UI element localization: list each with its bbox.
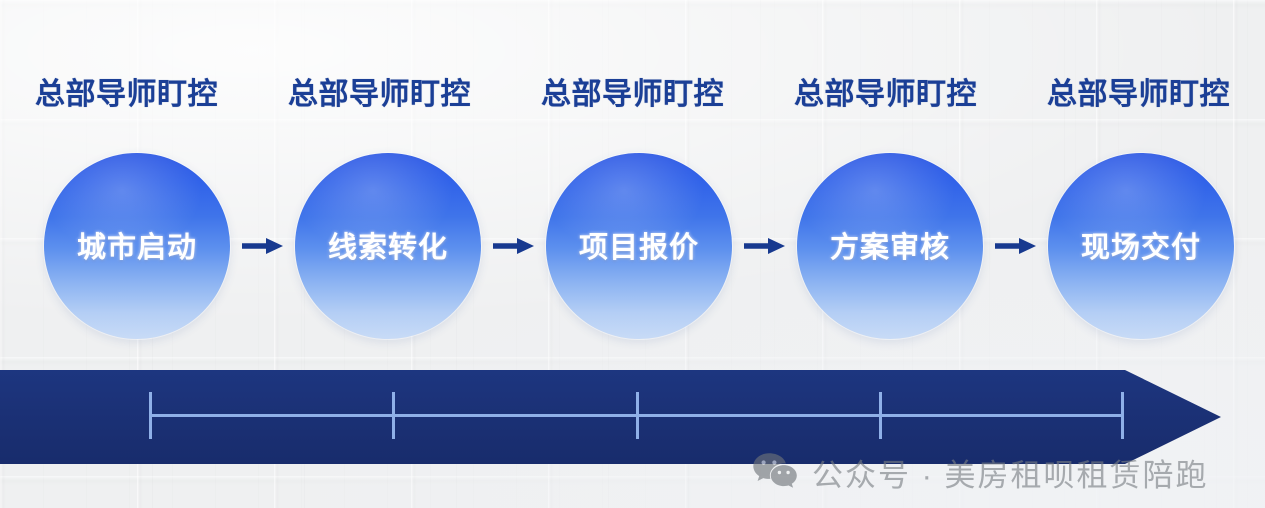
heading-label-2: 总部导师盯控: [288, 69, 471, 113]
process-node-5[interactable]: 现场交付: [1048, 153, 1234, 339]
arrow-right-icon: [743, 233, 787, 259]
process-node-label-3: 项目报价: [579, 224, 699, 266]
arrow-right-icon: [492, 233, 536, 259]
heading-cell-2: 总部导师盯控: [253, 68, 506, 114]
heading-label-5: 总部导师盯控: [1047, 69, 1230, 113]
arrow-right-icon: [994, 233, 1038, 259]
process-node-label-1: 城市启动: [77, 224, 197, 266]
watermark: 公众号 · 美房租呗租赁陪跑: [752, 449, 1209, 495]
process-node-4[interactable]: 方案审核: [797, 153, 983, 339]
heading-label-1: 总部导师盯控: [35, 69, 218, 113]
heading-cell-5: 总部导师盯控: [1012, 68, 1265, 114]
slide-canvas: 总部导师盯控 总部导师盯控 总部导师盯控 总部导师盯控 总部导师盯控 城市启动 …: [0, 0, 1265, 508]
wechat-icon: [752, 451, 798, 494]
process-node-label-2: 线索转化: [328, 224, 448, 266]
process-node-3[interactable]: 项目报价: [546, 153, 732, 339]
headings-row: 总部导师盯控 总部导师盯控 总部导师盯控 总部导师盯控 总部导师盯控: [0, 68, 1265, 114]
heading-cell-3: 总部导师盯控: [506, 68, 759, 114]
process-node-1[interactable]: 城市启动: [44, 153, 230, 339]
process-node-2[interactable]: 线索转化: [295, 153, 481, 339]
process-flow: 城市启动 线索转化 项目报价 方案审核: [44, 148, 1234, 344]
process-node-label-5: 现场交付: [1081, 224, 1201, 266]
arrow-right-icon: [241, 233, 285, 259]
process-node-label-4: 方案审核: [830, 224, 950, 266]
heading-label-3: 总部导师盯控: [541, 69, 724, 113]
heading-cell-4: 总部导师盯控: [759, 68, 1012, 114]
heading-label-4: 总部导师盯控: [794, 69, 977, 113]
watermark-text: 公众号 · 美房租呗租赁陪跑: [812, 450, 1209, 495]
heading-cell-1: 总部导师盯控: [0, 68, 253, 114]
